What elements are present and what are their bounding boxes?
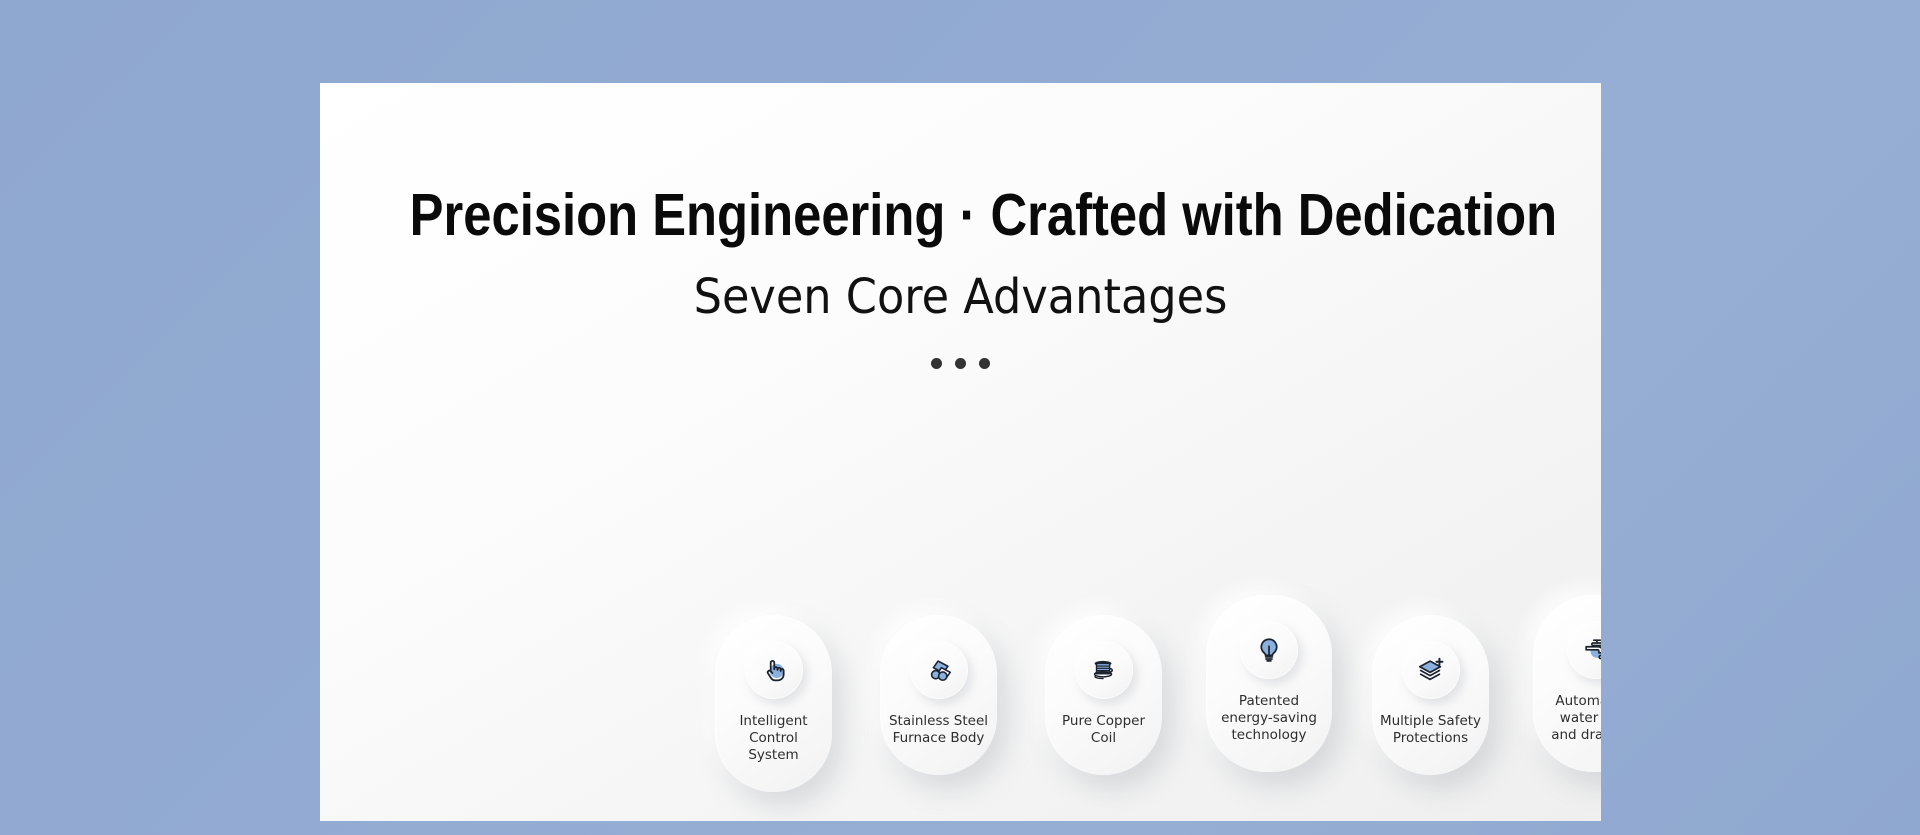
separator-dots bbox=[320, 358, 1601, 369]
page-root: Precision Engineering · Crafted with Ded… bbox=[0, 0, 1920, 835]
page-title: Precision Engineering · Crafted with Ded… bbox=[410, 185, 1512, 247]
touch-hand-icon bbox=[745, 641, 803, 699]
card-label: Automatical water inlet and drainage bbox=[1545, 693, 1601, 744]
lightbulb-icon bbox=[1240, 621, 1298, 679]
header-block: Precision Engineering · Crafted with Ded… bbox=[320, 185, 1601, 369]
wire-spool-icon bbox=[1075, 641, 1133, 699]
faucet-icon bbox=[1567, 621, 1601, 679]
advantage-card-patented-energy-saving-technology[interactable]: Patented energy-saving technology bbox=[1206, 595, 1332, 772]
card-label: Intelligent Control System bbox=[715, 713, 832, 764]
advantage-card-intelligent-control-system[interactable]: Intelligent Control System bbox=[715, 615, 832, 792]
dot-icon bbox=[955, 358, 966, 369]
content-panel: Precision Engineering · Crafted with Ded… bbox=[320, 83, 1601, 821]
dot-icon bbox=[931, 358, 942, 369]
card-label: Patented energy-saving technology bbox=[1215, 693, 1323, 744]
card-label: Pure Copper Coil bbox=[1056, 713, 1151, 747]
advantage-card-automatical-water-inlet-and-drainage[interactable]: Automatical water inlet and drainage bbox=[1533, 595, 1601, 772]
layers-plus-icon bbox=[1402, 641, 1460, 699]
card-label: Stainless Steel Furnace Body bbox=[883, 713, 994, 747]
page-subtitle: Seven Core Advantages bbox=[365, 271, 1556, 324]
steel-pipes-icon bbox=[910, 641, 968, 699]
advantage-card-multiple-safety-protections[interactable]: Multiple Safety Protections bbox=[1372, 615, 1489, 775]
dot-icon bbox=[979, 358, 990, 369]
card-label: Multiple Safety Protections bbox=[1374, 713, 1487, 747]
advantage-card-stainless-steel-furnace-body[interactable]: Stainless Steel Furnace Body bbox=[880, 615, 997, 775]
advantage-card-pure-copper-coil[interactable]: Pure Copper Coil bbox=[1045, 615, 1162, 775]
advantage-card-row: Intelligent Control System Stainless Ste… bbox=[715, 595, 1601, 795]
